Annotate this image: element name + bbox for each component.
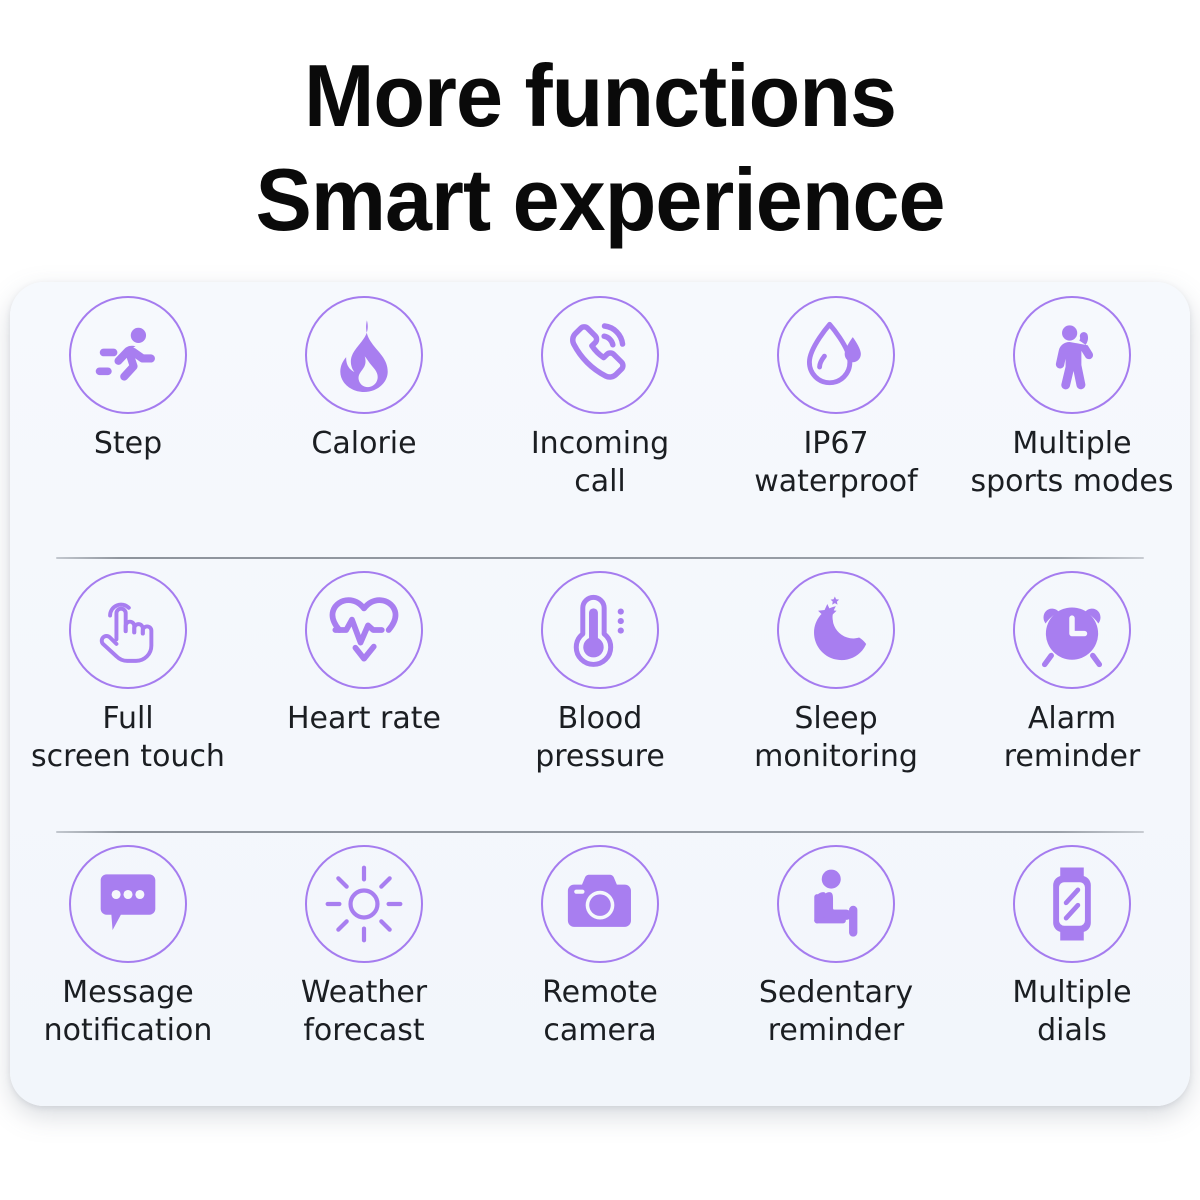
feature-label: Alarm reminder xyxy=(1004,700,1141,776)
smartwatch-icon xyxy=(1013,845,1131,963)
feature-label-line-2: screen touch xyxy=(31,738,225,776)
feature-label: Blood pressure xyxy=(535,700,665,776)
sitting-person-icon xyxy=(777,845,895,963)
feature-item-ip67-waterproof[interactable]: IP67 waterproof xyxy=(718,296,954,501)
features-grid: Step Calorie xyxy=(10,282,1190,1106)
feature-item-message-notification[interactable]: Message notification xyxy=(10,845,246,1050)
feature-label-line-2: notification xyxy=(44,1012,213,1050)
feature-item-sedentary-reminder[interactable]: Sedentary reminder xyxy=(718,845,954,1050)
feature-label: Remote camera xyxy=(542,974,658,1050)
phone-call-icon xyxy=(541,296,659,414)
infographic-page: More functions Smart experience xyxy=(0,0,1200,1200)
feature-item-alarm-reminder[interactable]: Alarm reminder xyxy=(954,571,1190,776)
feature-label-line-1: Sleep xyxy=(754,700,918,738)
feature-label: IP67 waterproof xyxy=(754,425,917,501)
feature-label-line-1: Multiple xyxy=(1012,974,1131,1012)
feature-item-multiple-dials[interactable]: Multiple dials xyxy=(954,845,1190,1050)
feature-item-heart-rate[interactable]: Heart rate xyxy=(246,571,482,738)
feature-label-line-2: pressure xyxy=(535,738,665,776)
stretching-person-icon xyxy=(1013,296,1131,414)
feature-label: Multiple dials xyxy=(1012,974,1131,1050)
feature-item-multiple-sports-modes[interactable]: Multiple sports modes xyxy=(954,296,1190,501)
feature-label-line-2: waterproof xyxy=(754,463,917,501)
message-bubble-icon xyxy=(69,845,187,963)
feature-item-step[interactable]: Step xyxy=(10,296,246,463)
feature-label: Weather forecast xyxy=(301,974,427,1050)
feature-label-line-2: dials xyxy=(1012,1012,1131,1050)
feature-label: Message notification xyxy=(44,974,213,1050)
flame-icon xyxy=(305,296,423,414)
alarm-clock-icon xyxy=(1013,571,1131,689)
feature-label-line-1: Blood xyxy=(535,700,665,738)
feature-label-line-1: Calorie xyxy=(311,425,416,463)
feature-item-blood-pressure[interactable]: Blood pressure xyxy=(482,571,718,776)
heart-pulse-icon xyxy=(305,571,423,689)
feature-item-calorie[interactable]: Calorie xyxy=(246,296,482,463)
camera-icon xyxy=(541,845,659,963)
feature-label-line-1: Remote xyxy=(542,974,658,1012)
feature-item-incoming-call[interactable]: Incoming call xyxy=(482,296,718,501)
feature-label: Sedentary reminder xyxy=(759,974,913,1050)
feature-label-line-1: Sedentary xyxy=(759,974,913,1012)
feature-label-line-1: Heart rate xyxy=(287,700,441,738)
running-person-icon xyxy=(69,296,187,414)
page-title: More functions Smart experience xyxy=(0,44,1200,252)
feature-item-weather-forecast[interactable]: Weather forecast xyxy=(246,845,482,1050)
feature-label-line-1: Multiple xyxy=(971,425,1174,463)
feature-label-line-2: forecast xyxy=(301,1012,427,1050)
features-row: Step Calorie xyxy=(10,282,1190,557)
feature-item-remote-camera[interactable]: Remote camera xyxy=(482,845,718,1050)
page-title-line-1: More functions xyxy=(24,44,1176,148)
feature-label-line-1: Full xyxy=(31,700,225,738)
features-row: Message notification xyxy=(10,831,1190,1106)
water-drop-icon xyxy=(777,296,895,414)
feature-label-line-1: Weather xyxy=(301,974,427,1012)
features-row: Full screen touch Heart rate xyxy=(10,557,1190,832)
feature-label: Full screen touch xyxy=(31,700,225,776)
touch-hand-icon xyxy=(69,571,187,689)
feature-label-line-2: sports modes xyxy=(971,463,1174,501)
feature-label: Incoming call xyxy=(531,425,669,501)
feature-label: Multiple sports modes xyxy=(971,425,1174,501)
thermometer-icon xyxy=(541,571,659,689)
feature-label: Sleep monitoring xyxy=(754,700,918,776)
moon-stars-icon xyxy=(777,571,895,689)
feature-item-full-screen-touch[interactable]: Full screen touch xyxy=(10,571,246,776)
feature-label-line-2: call xyxy=(531,463,669,501)
feature-label-line-2: camera xyxy=(542,1012,658,1050)
feature-label-line-1: Step xyxy=(94,425,162,463)
feature-label: Step xyxy=(94,425,162,463)
sun-icon xyxy=(305,845,423,963)
feature-label-line-1: Incoming xyxy=(531,425,669,463)
feature-label-line-1: Message xyxy=(44,974,213,1012)
feature-item-sleep-monitoring[interactable]: Sleep monitoring xyxy=(718,571,954,776)
feature-label-line-2: reminder xyxy=(1004,738,1141,776)
feature-label-line-2: monitoring xyxy=(754,738,918,776)
feature-label-line-1: IP67 xyxy=(754,425,917,463)
feature-label: Heart rate xyxy=(287,700,441,738)
feature-label-line-1: Alarm xyxy=(1004,700,1141,738)
feature-label-line-2: reminder xyxy=(759,1012,913,1050)
page-title-line-2: Smart experience xyxy=(24,148,1176,252)
features-card: Step Calorie xyxy=(10,282,1190,1106)
feature-label: Calorie xyxy=(311,425,416,463)
